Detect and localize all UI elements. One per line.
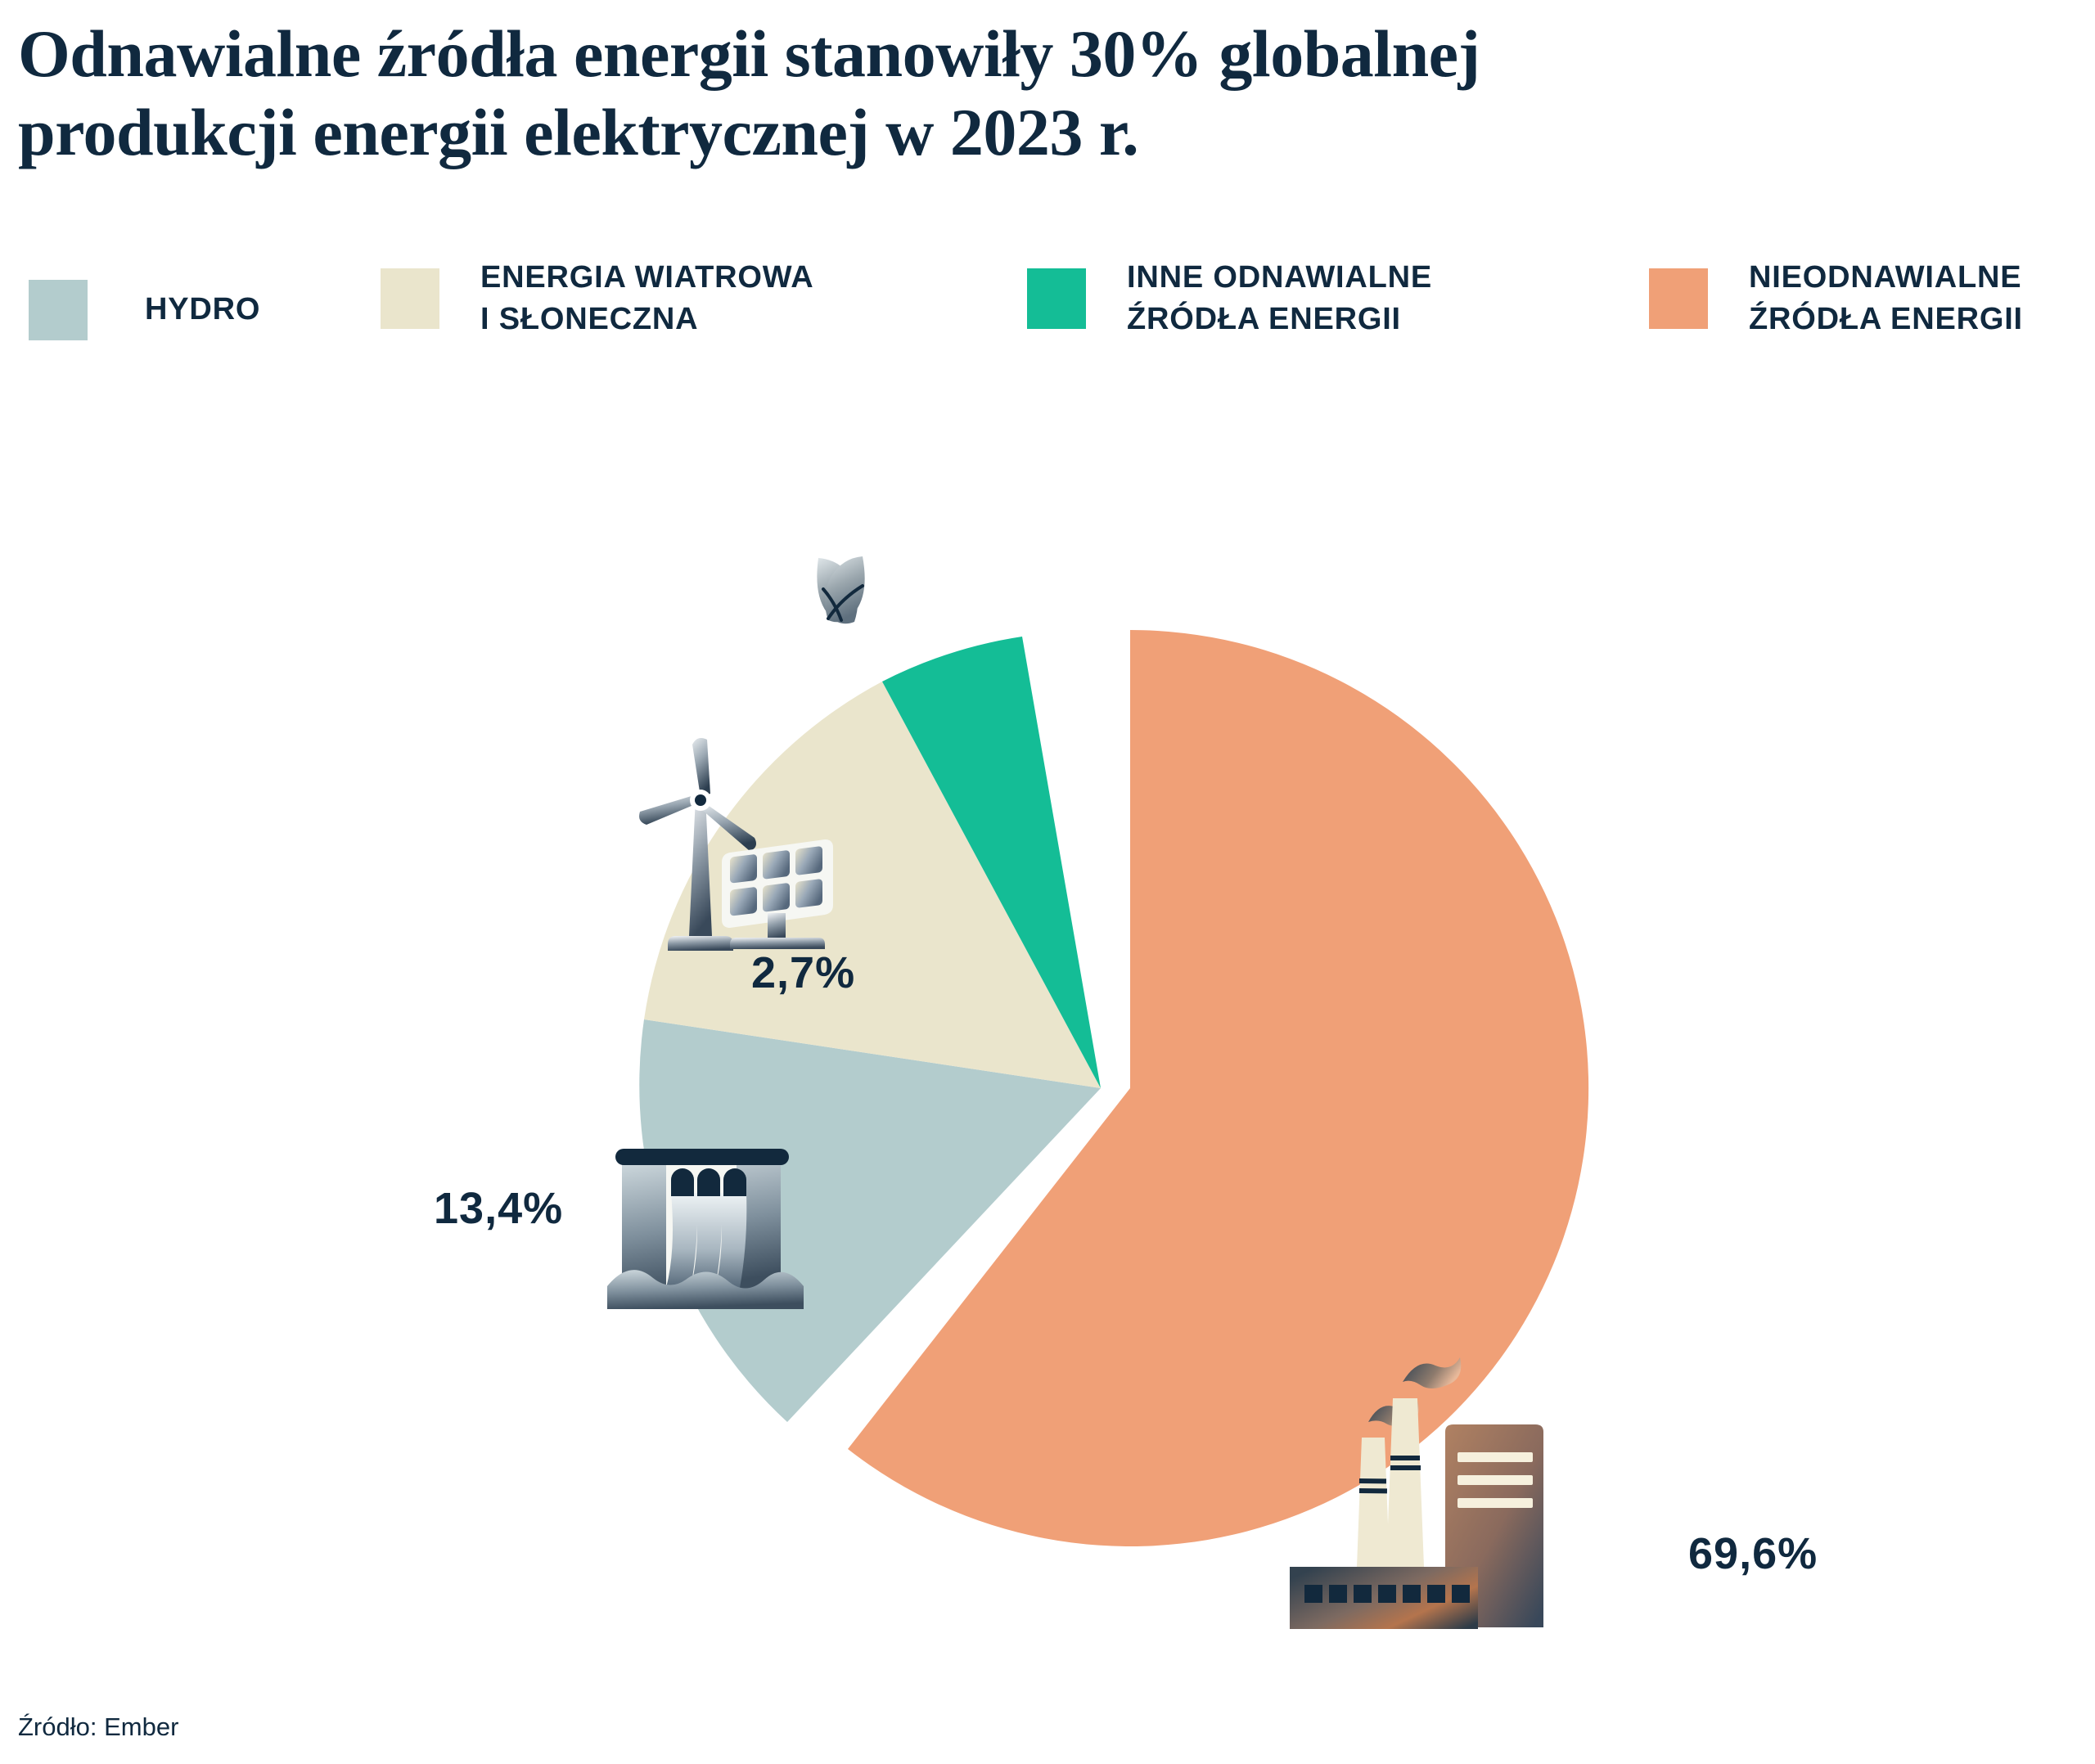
pie-label-non-renewable: 69,6% <box>1688 1528 1818 1579</box>
page-title-line-1: Odnawialne źródła energii stanowiły 30% … <box>18 15 2064 93</box>
legend-item-non-renewable: NIEODNAWIALNE ŹRÓDŁA ENERGII <box>1649 257 2023 341</box>
legend-swatch-hydro <box>29 280 88 340</box>
legend-item-hydro: HYDRO <box>29 280 260 340</box>
pie-chart-svg <box>0 458 2095 1636</box>
legend-label-hydro: HYDRO <box>145 289 260 331</box>
legend-label-non-renewable: NIEODNAWIALNE ŹRÓDŁA ENERGII <box>1749 257 2023 341</box>
legend-swatch-wind-solar <box>381 268 439 329</box>
infographic-page: Odnawialne źródła energii stanowiły 30% … <box>0 0 2095 1764</box>
leaf-biomass-icon <box>817 556 864 623</box>
pie-label-hydro: 14,3% <box>385 1757 514 1764</box>
hydro-dam-icon <box>607 1149 804 1309</box>
legend-label-wind-solar: ENERGIA WIATROWA I SŁONECZNA <box>480 257 814 341</box>
chart-legend: HYDRO ENERGIA WIATROWA I SŁONECZNA INNE … <box>0 263 2095 378</box>
legend-label-other-renewables: INNE ODNAWIALNE ŹRÓDŁA ENERGII <box>1127 257 1432 341</box>
pie-chart: 2,7% 13,4% 14,3% 69,6% <box>0 458 2095 1636</box>
page-title: Odnawialne źródła energii stanowiły 30% … <box>18 15 2064 172</box>
page-title-line-2: produkcji energii elektrycznej w 2023 r. <box>18 93 2064 172</box>
source-note: Źródło: Ember <box>18 1712 178 1742</box>
pie-label-wind-solar: 13,4% <box>434 1183 563 1234</box>
legend-item-other-renewables: INNE ODNAWIALNE ŹRÓDŁA ENERGII <box>1027 257 1432 341</box>
legend-item-wind-solar: ENERGIA WIATROWA I SŁONECZNA <box>381 257 814 341</box>
legend-swatch-non-renewable <box>1649 268 1708 329</box>
legend-swatch-other-renewables <box>1027 268 1086 329</box>
pie-label-other-renewables: 2,7% <box>751 947 855 998</box>
